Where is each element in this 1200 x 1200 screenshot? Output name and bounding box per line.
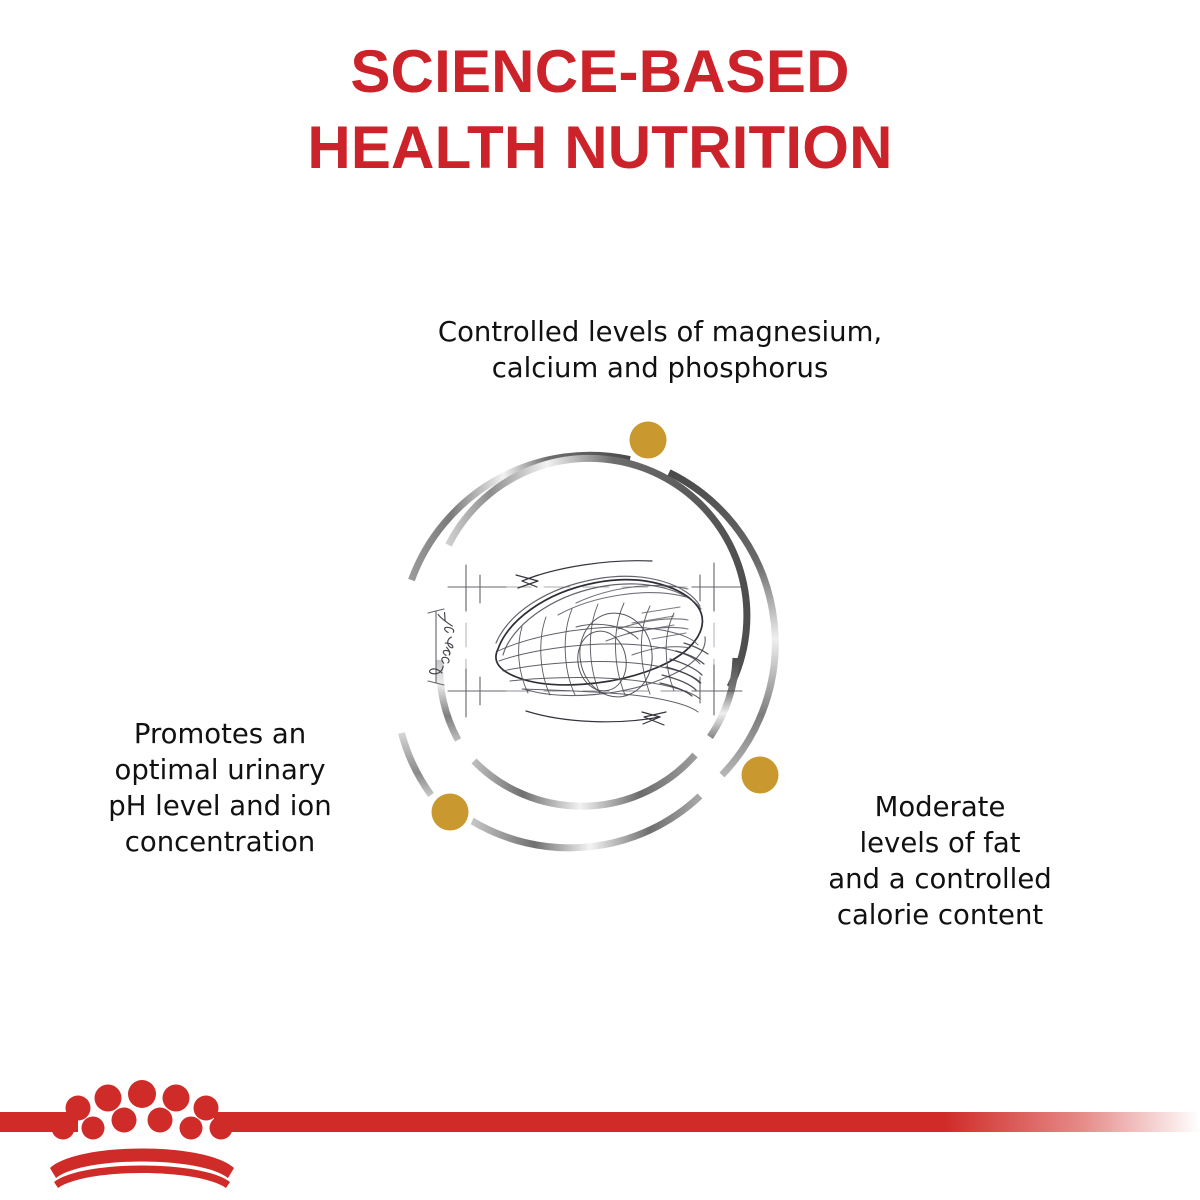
royal-canin-crown-logo-icon xyxy=(50,1080,234,1188)
node-dot-right[interactable] xyxy=(742,757,779,794)
callout-label-urinary-ph: Promotes an optimal urinary pH level and… xyxy=(55,716,385,860)
callout-label-fat-calorie: Moderate levels of fat and a controlled … xyxy=(795,789,1085,933)
kibble-technical-sketch-icon xyxy=(428,561,742,725)
footer-brand-bar xyxy=(0,1080,1200,1200)
red-rule-right-icon xyxy=(214,1112,1200,1132)
page-title: SCIENCE-BASED HEALTH NUTRITION xyxy=(0,34,1200,186)
node-dot-bottom-left[interactable] xyxy=(432,794,469,831)
kibble-ring-diagram xyxy=(370,415,810,885)
outer-dashed-ring-icon xyxy=(402,455,776,848)
page-title-line-1: SCIENCE-BASED xyxy=(0,34,1200,110)
callout-label-magnesium-calcium-phosphorus: Controlled levels of magnesium, calcium … xyxy=(340,314,980,386)
node-dot-top[interactable] xyxy=(630,422,667,459)
page-title-line-2: HEALTH NUTRITION xyxy=(0,110,1200,186)
